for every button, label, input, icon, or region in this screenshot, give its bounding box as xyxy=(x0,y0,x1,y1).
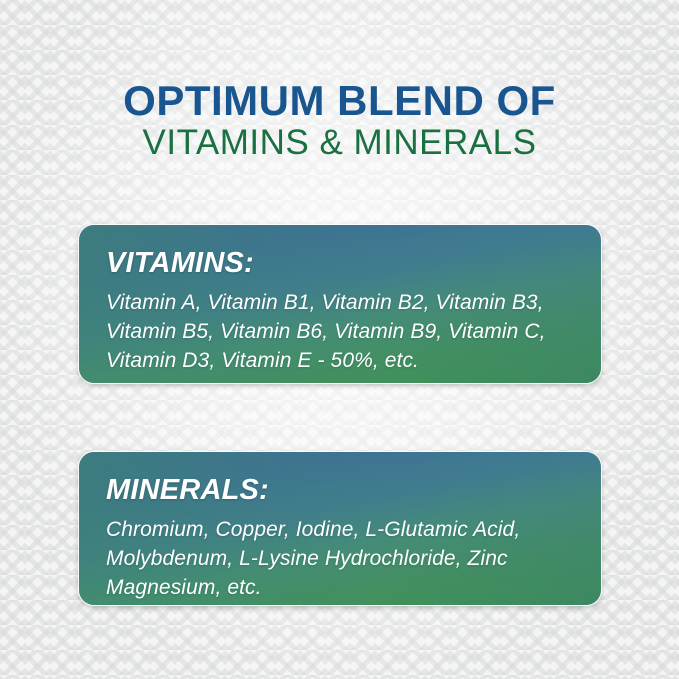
page-subtitle: VITAMINS & MINERALS xyxy=(0,123,679,163)
panel-vitamins-line-1: Vitamin A, Vitamin B1, Vitamin B2, Vitam… xyxy=(106,288,575,317)
panel-vitamins: VITAMINS: Vitamin A, Vitamin B1, Vitamin… xyxy=(78,224,602,384)
panel-minerals-line-3: Magnesium, etc. xyxy=(106,573,575,602)
panel-vitamins-content: VITAMINS: Vitamin A, Vitamin B1, Vitamin… xyxy=(79,225,601,384)
panel-minerals-content: MINERALS: Chromium, Copper, Iodine, L-Gl… xyxy=(79,452,601,606)
panel-vitamins-body: Vitamin A, Vitamin B1, Vitamin B2, Vitam… xyxy=(106,288,575,375)
panel-minerals-heading: MINERALS: xyxy=(106,474,575,506)
panel-minerals-body: Chromium, Copper, Iodine, L-Glutamic Aci… xyxy=(106,515,575,602)
page-title: OPTIMUM BLEND OF xyxy=(0,78,679,124)
page-header: OPTIMUM BLEND OF VITAMINS & MINERALS xyxy=(0,78,679,163)
panel-minerals-line-2: Molybdenum, L-Lysine Hydrochloride, Zinc xyxy=(106,544,575,573)
panel-minerals-line-1: Chromium, Copper, Iodine, L-Glutamic Aci… xyxy=(106,515,575,544)
panel-vitamins-heading: VITAMINS: xyxy=(106,247,575,279)
infographic-canvas: OPTIMUM BLEND OF VITAMINS & MINERALS VIT… xyxy=(0,0,679,679)
panel-minerals: MINERALS: Chromium, Copper, Iodine, L-Gl… xyxy=(78,451,602,606)
panel-vitamins-line-3: Vitamin D3, Vitamin E - 50%, etc. xyxy=(106,346,575,375)
panel-vitamins-line-2: Vitamin B5, Vitamin B6, Vitamin B9, Vita… xyxy=(106,317,575,346)
